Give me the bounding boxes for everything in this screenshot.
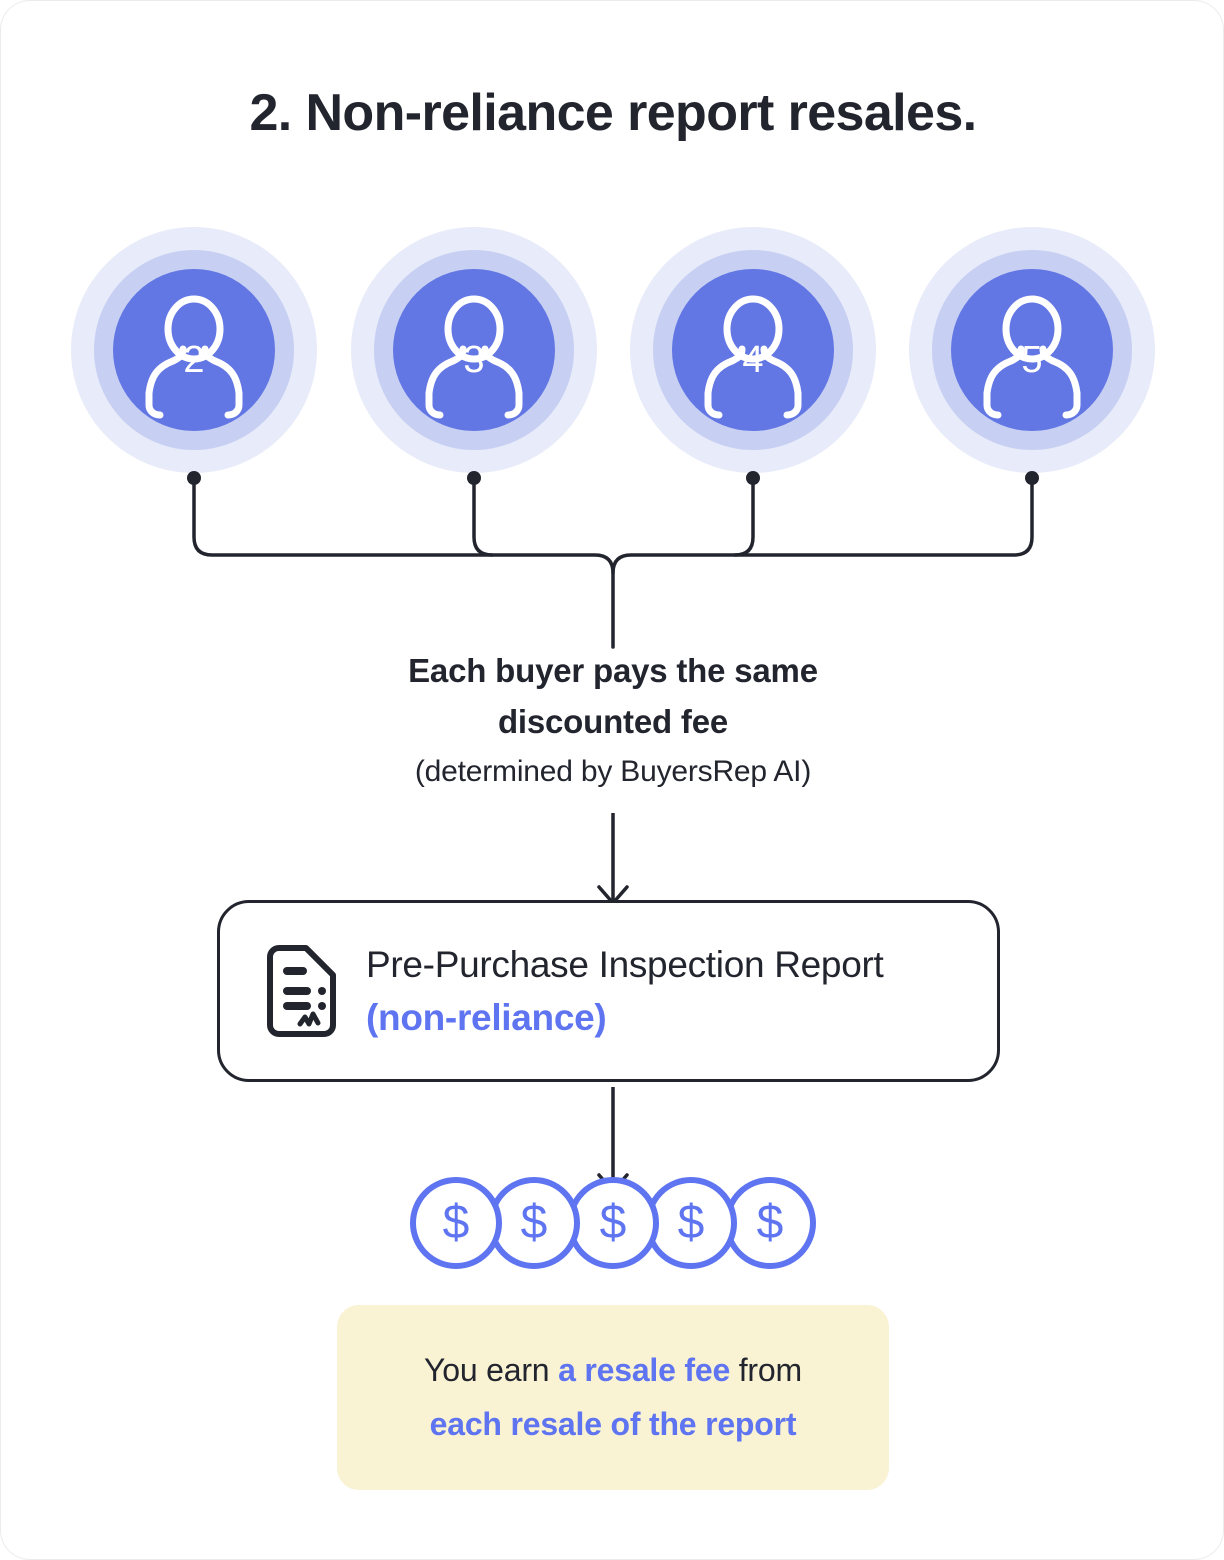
connector-dot — [467, 471, 481, 485]
buyers-row: 2 3 — [1, 227, 1224, 473]
dollar-coin-icon: $ — [724, 1177, 816, 1269]
buyer-avatar[interactable]: 3 — [351, 227, 597, 473]
callout-line-1: You earn a resale fee from — [424, 1344, 802, 1397]
arrow-to-report — [583, 813, 643, 909]
connector-dot — [187, 471, 201, 485]
resale-fee-callout: You earn a resale fee from each resale o… — [337, 1305, 889, 1490]
callout-accent-2: each resale of the report — [430, 1406, 797, 1442]
report-card[interactable]: Pre-Purchase Inspection Report (non-reli… — [217, 900, 1000, 1082]
callout-prefix: You earn — [424, 1352, 558, 1388]
buyer-avatar[interactable]: 4 — [630, 227, 876, 473]
fee-caption-line3: (determined by BuyersRep AI) — [1, 748, 1224, 796]
infographic-card: 2. Non-reliance report resales. 2 — [0, 0, 1224, 1560]
fee-caption-line1: Each buyer pays the same — [1, 646, 1224, 697]
dollar-coin-icon: $ — [567, 1177, 659, 1269]
document-report-icon — [260, 945, 336, 1037]
fee-caption: Each buyer pays the same discounted fee … — [1, 646, 1224, 796]
arrow-down-icon — [583, 813, 643, 909]
callout-line-2: each resale of the report — [430, 1398, 797, 1451]
buyer-number: 5 — [909, 341, 1155, 379]
buyers-connector — [1, 461, 1224, 651]
buyer-number: 4 — [630, 341, 876, 379]
page-title: 2. Non-reliance report resales. — [1, 83, 1224, 143]
report-label: Pre-Purchase Inspection Report (non-reli… — [366, 938, 884, 1045]
tree-bracket-connector-icon — [1, 461, 1224, 651]
coins-row: $ $ $ $ $ — [410, 1177, 816, 1269]
buyer-number: 3 — [351, 341, 597, 379]
buyer-number: 2 — [71, 341, 317, 379]
callout-accent-1: a resale fee — [558, 1352, 730, 1388]
report-subtitle: (non-reliance) — [366, 991, 884, 1044]
callout-suffix: from — [730, 1352, 802, 1388]
buyer-avatar[interactable]: 2 — [71, 227, 317, 473]
connector-dot — [1025, 471, 1039, 485]
dollar-coin-icon: $ — [410, 1177, 502, 1269]
fee-caption-line2: discounted fee — [1, 697, 1224, 748]
report-title: Pre-Purchase Inspection Report — [366, 938, 884, 991]
connector-dot — [746, 471, 760, 485]
buyer-avatar[interactable]: 5 — [909, 227, 1155, 473]
